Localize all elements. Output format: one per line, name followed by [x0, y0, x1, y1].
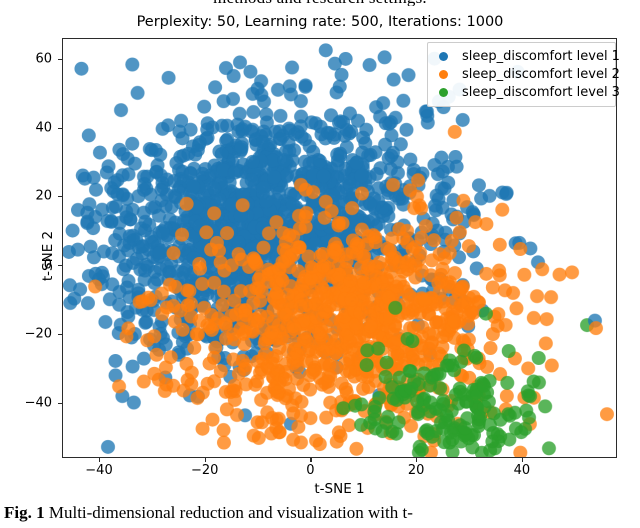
x-tick-mark [99, 458, 100, 462]
figure-caption: Fig. 1 Multi-dimensional reduction and v… [0, 503, 640, 528]
y-axis-label: t-SNE 2 [40, 196, 56, 316]
legend-marker-icon [439, 70, 448, 79]
x-tick-mark [310, 458, 311, 462]
y-tick-label: −20 [0, 327, 52, 342]
chart-legend: sleep_discomfort level 1 sleep_discomfor… [427, 42, 616, 107]
x-tick-label: 0 [306, 463, 314, 478]
y-tick-label: 60 [0, 51, 52, 66]
y-tick-mark [58, 128, 62, 129]
y-tick-mark [58, 334, 62, 335]
figure-caption-label: Fig. 1 [4, 503, 45, 522]
tsne-figure: Perplexity: 50, Learning rate: 500, Iter… [0, 0, 640, 500]
x-tick-mark [522, 458, 523, 462]
y-tick-label: 40 [0, 120, 52, 135]
legend-item[interactable]: sleep_discomfort level 2 [434, 65, 609, 83]
legend-marker-icon [439, 88, 448, 97]
x-axis-label: t-SNE 1 [62, 481, 617, 497]
x-tick-label: 40 [514, 463, 531, 478]
y-tick-mark [58, 196, 62, 197]
figure-caption-text: Multi-dimensional reduction and visualiz… [49, 503, 413, 522]
legend-item[interactable]: sleep_discomfort level 3 [434, 83, 609, 101]
chart-title: Perplexity: 50, Learning rate: 500, Iter… [0, 14, 640, 30]
legend-item-label: sleep_discomfort level 3 [462, 85, 620, 100]
x-tick-label: 20 [408, 463, 425, 478]
x-tick-label: −40 [85, 463, 112, 478]
x-tick-mark [205, 458, 206, 462]
legend-item-label: sleep_discomfort level 2 [462, 67, 620, 82]
y-tick-mark [58, 59, 62, 60]
y-tick-mark [58, 403, 62, 404]
legend-marker-icon [439, 52, 448, 61]
legend-item[interactable]: sleep_discomfort level 1 [434, 47, 609, 65]
y-tick-label: −40 [0, 395, 52, 410]
x-tick-label: −20 [191, 463, 218, 478]
x-tick-mark [416, 458, 417, 462]
y-tick-mark [58, 265, 62, 266]
legend-item-label: sleep_discomfort level 1 [462, 49, 620, 64]
